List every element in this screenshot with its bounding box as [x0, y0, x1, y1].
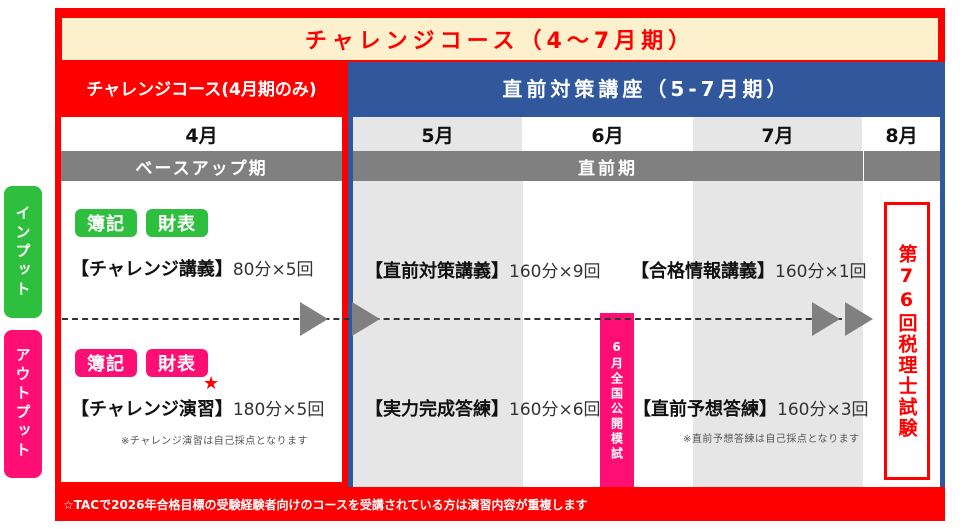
right-input-course-2: 【合格情報講義】160分×1回	[631, 257, 867, 283]
badge-bookkeeping-output: 簿記	[75, 349, 137, 377]
left-input-course-detail: 80分×5回	[233, 260, 314, 280]
footer-bar: ☆TACで2026年合格目標の受験経験者向けのコースを受講されている方は演習内容…	[55, 487, 945, 521]
right-output-course-1-detail: 160分×6回	[509, 400, 601, 420]
rail-input-label: インプット	[4, 186, 42, 318]
rail-output-label: アウトプット	[4, 330, 42, 478]
footer-note: ☆TACで2026年合格目標の受験経験者向けのコースを受講されている方は演習内容…	[55, 496, 588, 513]
right-section-header-label: 直前対策講座（5-7月期）	[502, 73, 790, 102]
schedule-diagram: チャレンジコース（4〜7月期） チャレンジコース(4月期のみ) 直前対策講座（5…	[0, 0, 960, 529]
stripe-july	[693, 181, 863, 492]
mock-exam-block: 6月全国公開模試	[600, 313, 634, 488]
right-input-course-2-name: 【合格情報講義】	[631, 261, 775, 282]
right-input-course-1: 【直前対策講義】160分×9回	[365, 257, 601, 283]
month-cell-may: 5月	[353, 117, 523, 151]
left-output-course-name: 【チャレンジ演習】	[71, 399, 233, 420]
right-output-course-2-name: 【直前予想答練】	[633, 399, 777, 420]
right-course-panel: 5月 6月 7月 8月 直前期 【直前対策講義】160分×9回 【合格情報講義】…	[348, 112, 945, 487]
course-title-banner: チャレンジコース（4〜7月期）	[62, 18, 938, 60]
month-cell-august: 8月	[863, 117, 940, 151]
right-output-course-1: 【実力完成答練】160分×6回	[365, 395, 601, 421]
left-output-course-detail: 180分×5回	[233, 400, 325, 420]
badge-financial-output: 財表	[146, 349, 208, 377]
right-panel-inner: 5月 6月 7月 8月 直前期 【直前対策講義】160分×9回 【合格情報講義】…	[353, 117, 940, 482]
arrow-right-icon-2	[352, 302, 380, 336]
right-phase-cell: 直前期	[353, 151, 863, 181]
left-course-panel: 4月 ベースアップ期 簿記 財表 【チャレンジ講義】80分×5回 簿記 財表 ★…	[55, 112, 348, 487]
left-panel-inner: 4月 ベースアップ期 簿記 財表 【チャレンジ講義】80分×5回 簿記 財表 ★…	[61, 117, 342, 482]
star-icon: ★	[203, 375, 219, 393]
left-section-header: チャレンジコース(4月期のみ)	[55, 62, 348, 112]
right-output-note: ※直前予想答練は自己採点となります	[683, 430, 860, 445]
right-phase-tail	[863, 151, 940, 181]
right-month-row: 5月 6月 7月 8月	[353, 117, 940, 151]
arrow-right-icon-4	[845, 302, 873, 336]
right-input-course-1-detail: 160分×9回	[509, 262, 601, 282]
right-phase-row: 直前期	[353, 151, 940, 181]
month-column-stripes	[353, 181, 940, 492]
left-month-cell: 4月	[61, 117, 342, 151]
left-section-header-label: チャレンジコース(4月期のみ)	[86, 75, 316, 100]
right-output-course-2-detail: 160分×3回	[777, 400, 869, 420]
right-input-course-2-detail: 160分×1回	[775, 262, 867, 282]
arrow-right-icon-1	[300, 302, 328, 336]
timeline-dashed-line	[62, 318, 862, 320]
left-phase-cell: ベースアップ期	[61, 151, 342, 181]
left-output-note: ※チャレンジ演習は自己採点となります	[121, 432, 308, 447]
right-output-course-1-name: 【実力完成答練】	[365, 399, 509, 420]
right-section-header: 直前対策講座（5-7月期）	[348, 62, 945, 112]
left-input-course-name: 【チャレンジ講義】	[71, 259, 233, 280]
right-output-course-2: 【直前予想答練】160分×3回	[633, 395, 869, 421]
badge-bookkeeping-input: 簿記	[75, 209, 137, 237]
month-cell-july: 7月	[693, 117, 863, 151]
right-input-course-1-name: 【直前対策講義】	[365, 261, 509, 282]
arrow-right-icon-3	[812, 302, 840, 336]
badge-financial-input: 財表	[146, 209, 208, 237]
left-input-badges: 簿記 財表	[75, 209, 208, 237]
month-cell-june: 6月	[523, 117, 693, 151]
left-output-badges: 簿記 財表	[75, 349, 208, 377]
exam-block: 第76回税理士試験	[884, 202, 930, 480]
left-input-course: 【チャレンジ講義】80分×5回	[71, 255, 314, 281]
left-output-course: 【チャレンジ演習】180分×5回	[71, 395, 324, 421]
course-title: チャレンジコース（4〜7月期）	[305, 23, 695, 55]
stripe-may	[353, 181, 523, 492]
